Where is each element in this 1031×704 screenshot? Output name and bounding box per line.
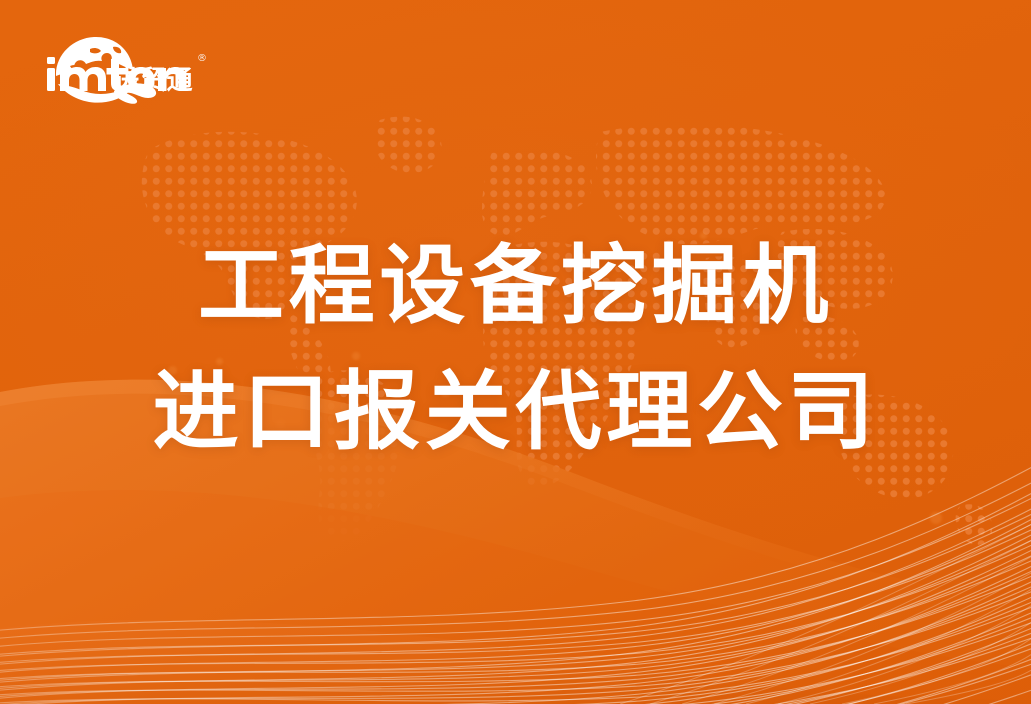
- logo-chinese-name: 进贸通: [113, 66, 193, 96]
- trademark-icon: ®: [197, 53, 207, 64]
- headline-line-1: 工程设备挖掘机: [0, 243, 1031, 329]
- headline-line-2: 进口报关代理公司: [0, 369, 1031, 455]
- company-logo[interactable]: 进贸通 ®: [38, 28, 213, 106]
- promotional-banner: 进贸通 ® 工程设备挖掘机 进口报关代理公司: [0, 0, 1031, 704]
